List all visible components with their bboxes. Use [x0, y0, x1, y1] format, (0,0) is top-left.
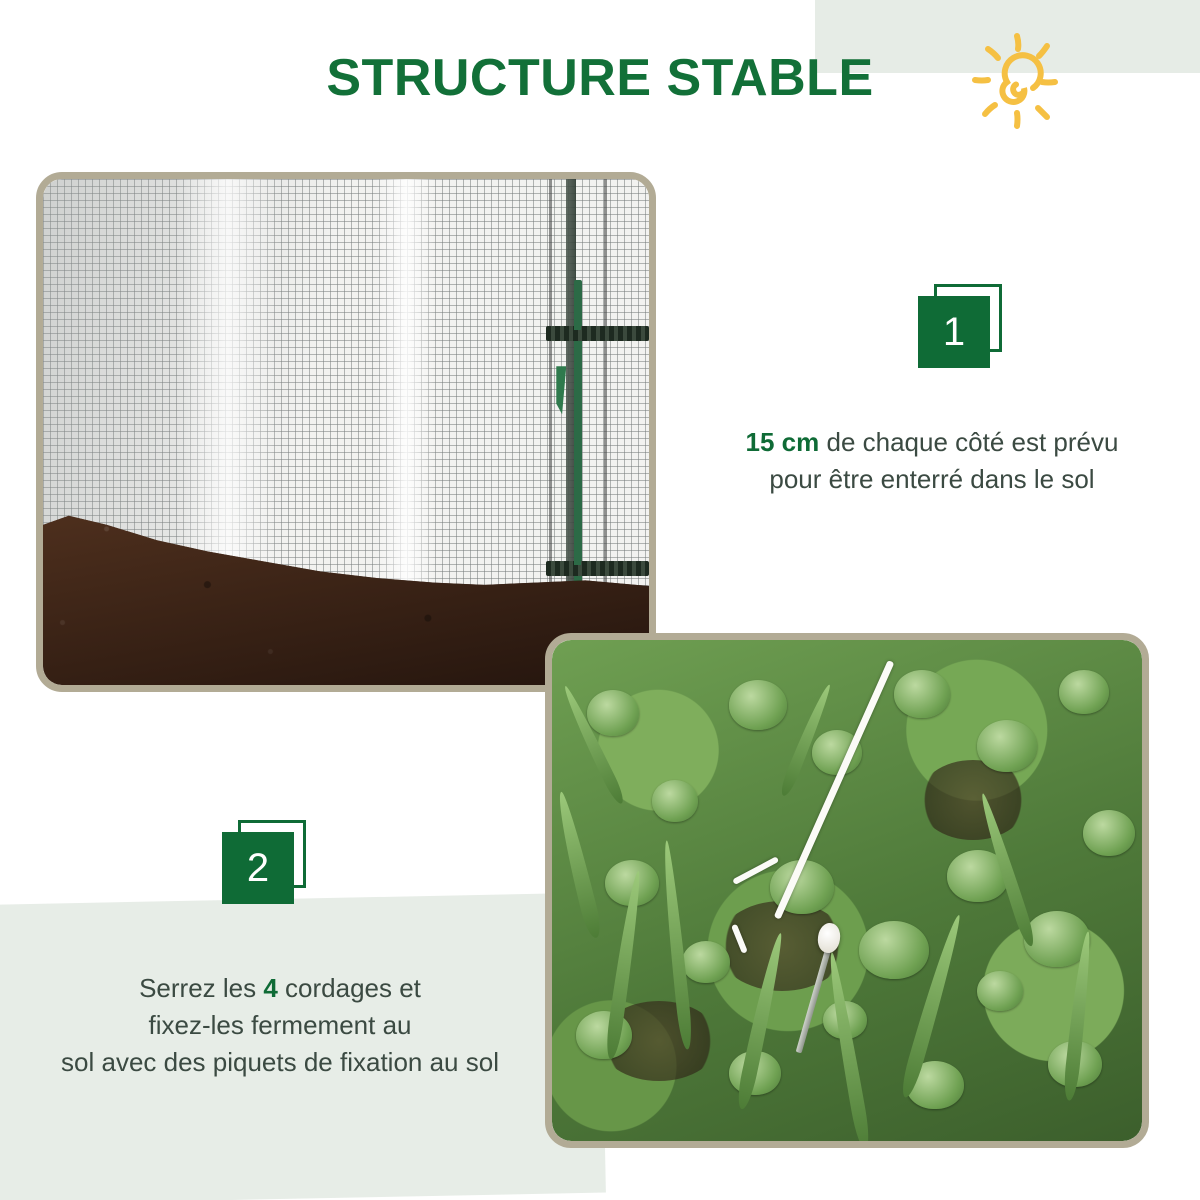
greenhouse-buried-edge-photo — [36, 172, 656, 692]
badge-number: 2 — [222, 832, 294, 904]
clover-leaf — [682, 941, 730, 983]
poster-canvas: STRUCTURE STABLE — [0, 0, 1200, 1200]
greenhouse-shelf-top — [546, 326, 649, 341]
clover-leaf — [977, 971, 1023, 1011]
step-1-caption: 15 cm de chaque côté est prévu pour être… — [700, 424, 1164, 498]
soil-patch — [918, 760, 1028, 840]
ground-peg-photo-content — [552, 640, 1142, 1141]
step-1-text-line2: pour être enterré dans le sol — [769, 464, 1094, 494]
step-1-highlight: 15 cm — [746, 427, 820, 457]
greenhouse-shelf-bottom — [546, 561, 649, 576]
step-1-text-rest: de chaque côté est prévu — [819, 427, 1118, 457]
clover-leaf — [652, 780, 698, 822]
greenhouse-shelf-leg-top — [574, 308, 581, 330]
clover-leaf — [729, 680, 787, 730]
sun-spiral-icon — [955, 22, 1075, 142]
clover-leaf — [859, 921, 929, 979]
clover-leaf — [587, 690, 639, 736]
clover-leaf — [1059, 670, 1109, 714]
ground-peg-rope-photo — [545, 633, 1149, 1148]
step-2-line1-pre: Serrez les — [139, 973, 263, 1003]
step-badge-1: 1 — [918, 296, 990, 368]
step-badge-2: 2 — [222, 832, 294, 904]
step-2-caption: Serrez les 4 cordages et fixez-les ferme… — [30, 970, 530, 1081]
greenhouse-photo-content — [43, 179, 649, 685]
greenhouse-shelf-leg-bottom — [574, 543, 581, 565]
clover-leaf — [894, 670, 950, 718]
clover-leaf — [1083, 810, 1135, 856]
step-2-line2: fixez-les fermement au — [149, 1010, 412, 1040]
step-2-highlight: 4 — [263, 973, 277, 1003]
step-2-line1-post: cordages et — [278, 973, 421, 1003]
clover-leaf — [977, 720, 1037, 772]
step-2-line3: sol avec des piquets de fixation au sol — [61, 1047, 499, 1077]
badge-number: 1 — [918, 296, 990, 368]
